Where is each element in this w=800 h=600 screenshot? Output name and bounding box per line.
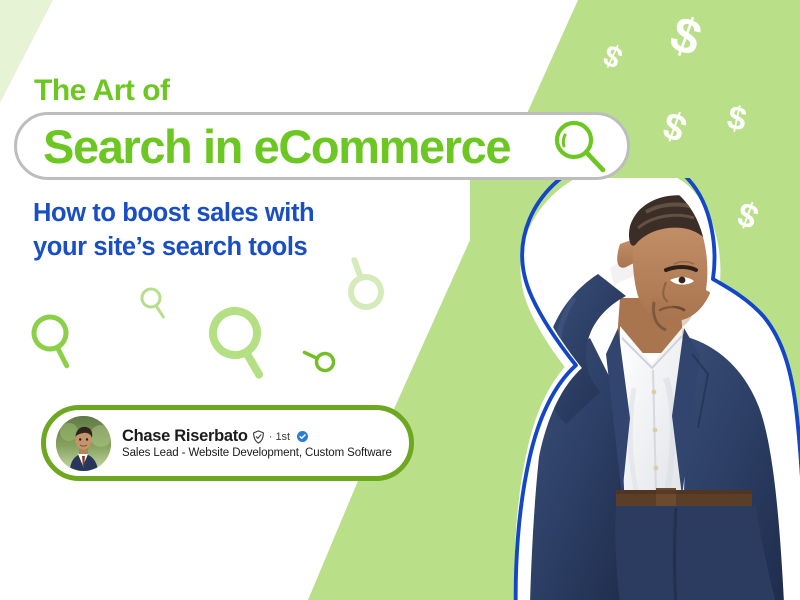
search-bar-text: Search in eCommerce — [43, 123, 551, 170]
magnifier-decor-5 — [338, 260, 390, 312]
avatar — [56, 416, 111, 471]
subtitle-text-2: your site’s search tools — [33, 233, 307, 261]
profile-text: Chase Riserbato · 1st Sales Lead - Websi… — [122, 427, 392, 459]
person-photo — [470, 178, 800, 600]
eyebrow-text: The Art of — [34, 76, 170, 106]
profile-name-row: Chase Riserbato · 1st — [122, 427, 392, 446]
infographic-canvas: $ $ $ $ $ — [0, 0, 800, 600]
subtitle-text-1: How to boost sales with — [33, 199, 314, 227]
subtitle-line-1: How to boost sales withyour site’s searc… — [33, 197, 314, 265]
profile-role: Sales Lead - Website Development, Custom… — [122, 447, 392, 459]
search-bar[interactable]: Search in eCommerce — [14, 112, 630, 180]
verified-shield-icon — [252, 430, 265, 444]
magnifier-decor-1 — [27, 313, 80, 366]
connection-degree: · 1st — [269, 431, 290, 443]
magnifier-decor-4 — [304, 344, 335, 375]
profile-card[interactable]: Chase Riserbato · 1st Sales Lead - Websi… — [41, 405, 414, 481]
magnifier-decor-3 — [205, 306, 274, 375]
magnifier-decor-2 — [139, 287, 169, 317]
linkedin-verified-badge-icon — [297, 431, 308, 442]
magnifier-icon[interactable] — [551, 117, 609, 175]
profile-name: Chase Riserbato — [122, 427, 248, 446]
